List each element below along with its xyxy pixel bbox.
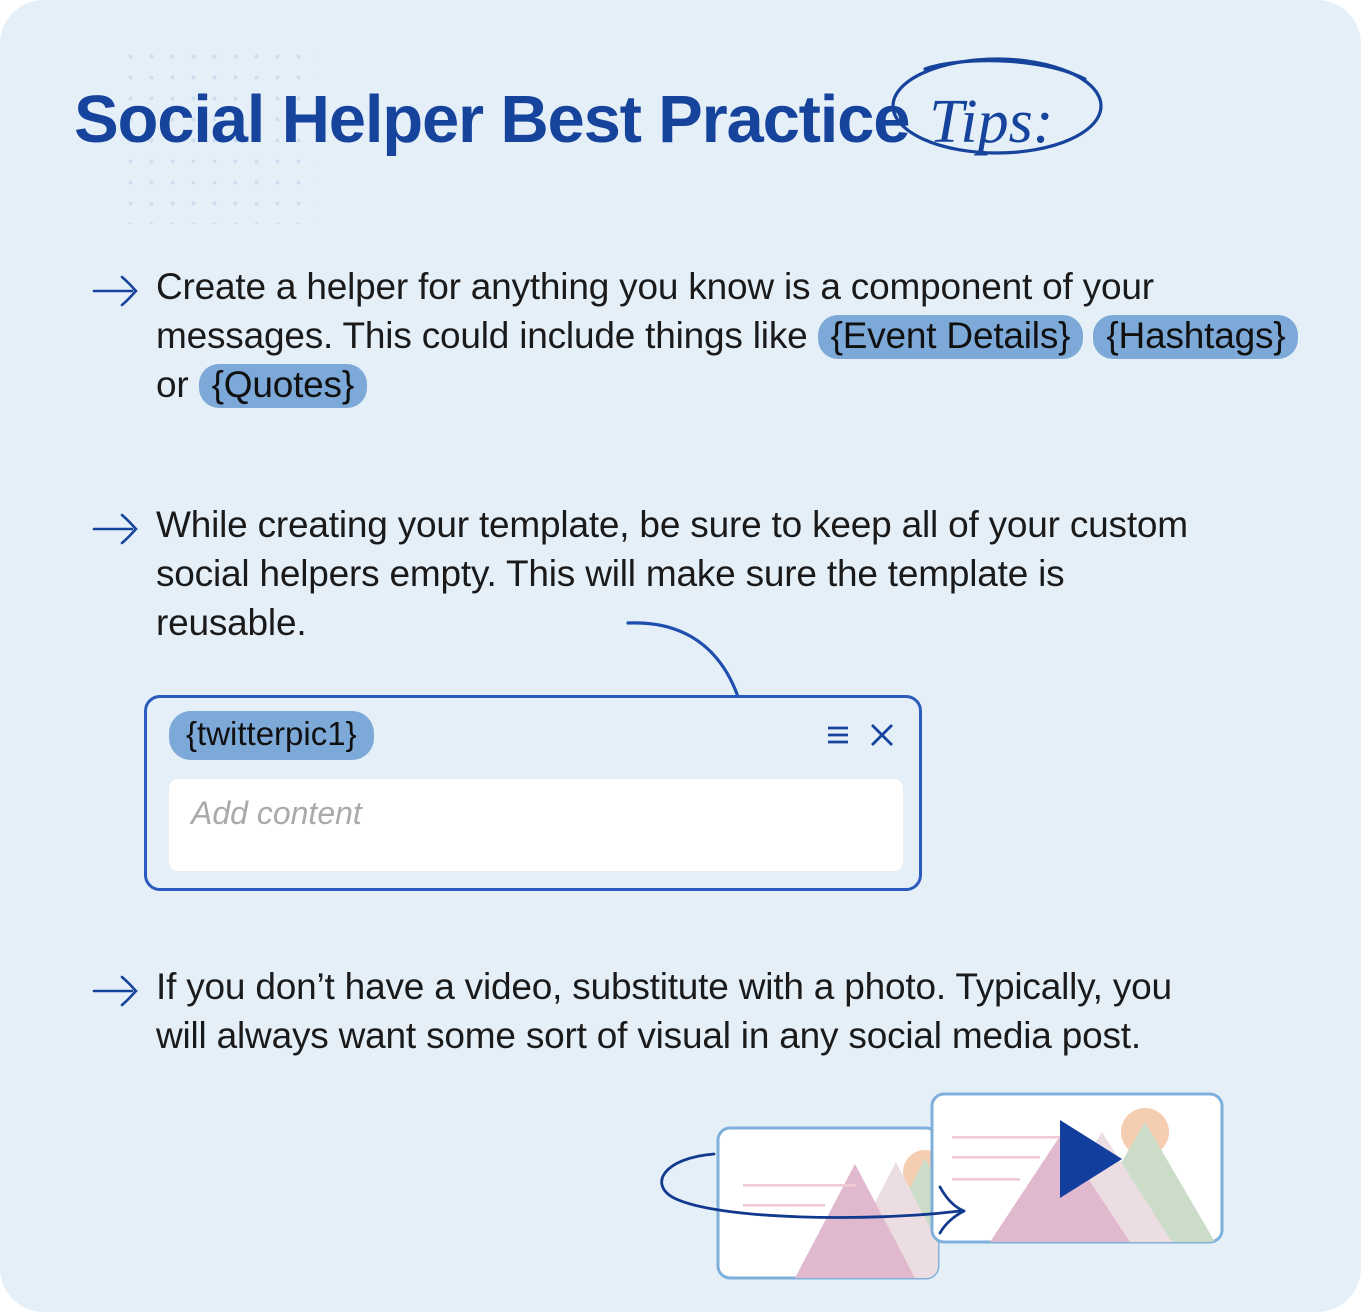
card-content-input[interactable]: Add content — [169, 779, 903, 871]
play-triangle-icon — [1060, 1120, 1122, 1198]
arrow-right-icon — [92, 274, 142, 308]
card-icon-group — [823, 720, 897, 750]
card-helper-tag[interactable]: {twitterpic1} — [169, 711, 374, 760]
tip-item-2: While creating your template, be sure to… — [92, 500, 1212, 647]
tip-item-1: Create a helper for anything you know is… — [92, 262, 1302, 409]
tip-1-segment-4: or — [156, 364, 199, 405]
video-card — [932, 1094, 1222, 1242]
social-helper-card[interactable]: {twitterpic1} Add content — [144, 695, 922, 891]
tip-item-3: If you don’t have a video, substitute wi… — [92, 962, 1212, 1060]
tip-1-tag-quotes: {Quotes} — [199, 364, 367, 408]
tip-item-3-text: If you don’t have a video, substitute wi… — [156, 962, 1212, 1060]
page-title-emphasis-wrap: Tips: — [907, 91, 1079, 153]
tip-item-2-text: While creating your template, be sure to… — [156, 500, 1212, 647]
card-header: {twitterpic1} — [147, 698, 919, 764]
page-title-main: Social Helper Best Practice — [74, 86, 909, 153]
page-title: Social Helper Best Practice Tips: — [74, 86, 1079, 178]
tip-1-segment-2 — [1083, 315, 1093, 356]
arrow-right-icon — [92, 512, 142, 546]
tip-1-tag-hashtags: {Hashtags} — [1093, 315, 1298, 359]
card-content-placeholder: Add content — [191, 795, 362, 831]
infographic-page: Social Helper Best Practice Tips: Create… — [0, 0, 1361, 1312]
arrow-right-icon — [92, 974, 142, 1008]
close-x-icon[interactable] — [867, 720, 897, 750]
page-title-emphasis: Tips: — [929, 88, 1053, 156]
photo-card — [718, 1128, 985, 1278]
hamburger-menu-icon[interactable] — [823, 720, 853, 750]
tip-item-1-text: Create a helper for anything you know is… — [156, 262, 1302, 409]
tip-1-tag-event-details: {Event Details} — [818, 315, 1084, 359]
curved-loop-arrow-icon — [662, 1154, 964, 1233]
media-cards-illustration — [640, 1080, 1260, 1312]
